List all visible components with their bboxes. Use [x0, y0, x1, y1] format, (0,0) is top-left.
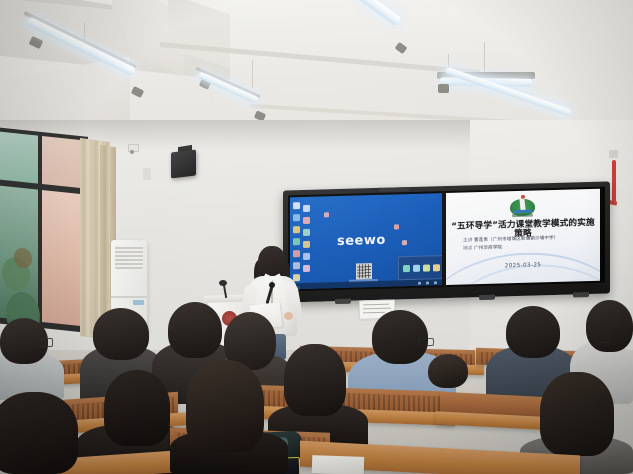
app-icon[interactable] — [303, 229, 310, 236]
app-icon[interactable] — [293, 202, 300, 209]
security-camera-lens — [130, 150, 134, 154]
window-pane — [0, 186, 38, 322]
pipe-mount — [609, 150, 618, 158]
qr-code[interactable] — [356, 263, 372, 279]
eyeglasses — [594, 334, 610, 343]
slide-location-line: 地点 广州华商学院 — [463, 242, 593, 252]
audience-head — [540, 372, 614, 456]
desktop-shortcut-icon[interactable] — [324, 212, 329, 217]
audience-head — [0, 392, 78, 474]
school-emblem-logo — [509, 195, 536, 218]
air-conditioner-band — [111, 296, 147, 298]
dock-icon[interactable] — [403, 265, 410, 272]
dock-icon[interactable] — [413, 265, 420, 272]
seewo-whiteboard-screen[interactable]: seewo — [290, 193, 443, 289]
audience-head — [186, 360, 264, 452]
light-bracket — [438, 84, 449, 93]
presentation-slide-screen[interactable]: “五环导学”活力课堂教学模式的实施策略 主讲 曹莲贵（广州市增城区新塘镇沙埔中学… — [446, 189, 600, 285]
emblem-wave — [513, 210, 532, 214]
podium-microphone-head — [219, 280, 227, 286]
eyeglasses — [418, 338, 434, 346]
audience-head — [372, 310, 428, 364]
presenter-hair — [258, 246, 286, 279]
dock-icon[interactable] — [423, 264, 430, 271]
display-control-strip[interactable] — [379, 187, 409, 192]
window-pane — [42, 136, 84, 188]
slide-location-label: 地点 — [463, 246, 472, 251]
wall-display-unit: seewo — [283, 181, 610, 302]
display-mount-foot — [479, 295, 495, 300]
wall-bracket — [143, 168, 151, 180]
app-icon[interactable] — [293, 226, 300, 233]
audience-head — [506, 306, 560, 358]
app-icon[interactable] — [303, 205, 310, 212]
seewo-dock-panel[interactable] — [398, 255, 443, 280]
classroom-window — [0, 127, 88, 333]
emblem-text — [512, 214, 533, 218]
audience-head — [284, 344, 346, 416]
app-icon[interactable] — [293, 238, 300, 245]
display-mount-foot — [335, 299, 351, 304]
air-conditioner-grill — [115, 245, 143, 269]
fire-sprinkler-pipe — [612, 160, 616, 202]
slide-presenter-value: 曹莲贵（广州市增城区新塘镇沙埔中学） — [474, 236, 559, 243]
app-icon[interactable] — [293, 214, 300, 221]
audience-head — [104, 370, 170, 446]
app-icon[interactable] — [303, 217, 310, 224]
desktop-shortcut-icon[interactable] — [394, 224, 399, 229]
seewo-wordmark: seewo — [337, 233, 386, 249]
audience-head — [428, 354, 468, 388]
window-pane — [0, 132, 38, 184]
display-mount-foot — [573, 292, 589, 297]
slide-presenter-label: 主讲 — [463, 238, 472, 243]
slide-location-value: 广州华商学院 — [474, 245, 502, 251]
wall-speaker — [171, 149, 196, 178]
audience-head — [168, 302, 222, 358]
window-pane — [42, 190, 84, 326]
eyeglasses — [38, 338, 53, 347]
dock-icon[interactable] — [433, 264, 440, 271]
desktop-shortcut-icon[interactable] — [402, 240, 407, 245]
audience-head — [586, 300, 633, 352]
light-hanger — [252, 60, 253, 88]
microphone-head — [269, 282, 275, 288]
classroom-photo-scene: seewo — [0, 0, 633, 474]
presenter-hand — [284, 312, 293, 320]
air-conditioner-logo — [133, 300, 144, 305]
loose-papers — [312, 455, 365, 474]
audience-head — [93, 308, 149, 360]
